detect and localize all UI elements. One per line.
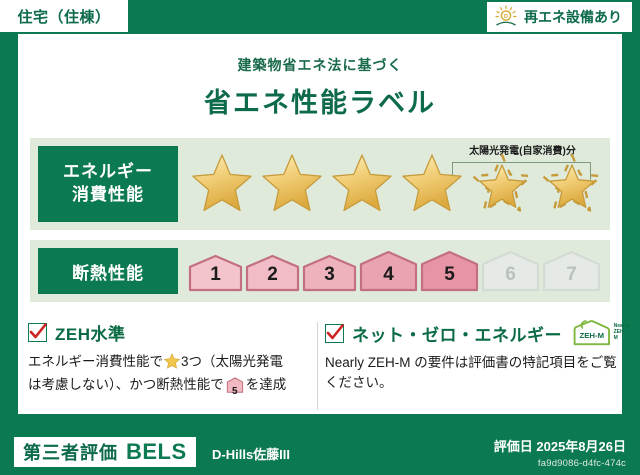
zeh-m-logo: ZEH-M Nearly ZEH-M [572, 320, 629, 346]
house-level-number: 3 [302, 264, 357, 286]
evaluation-date: 評価日 2025年8月26日 [494, 436, 626, 455]
insulation-houses-area: 1234567 [178, 240, 610, 302]
bels-badge: 第三者評価 BELS [14, 437, 196, 467]
title-subtitle: 建築物省エネ法に基づく [0, 55, 640, 75]
svg-text:ZEH-M: ZEH-M [580, 331, 605, 340]
star-rating [188, 151, 606, 217]
zeh-standard-block: ZEH水準 エネルギー消費性能で3つ（太陽光発電は考慮しない）、かつ断熱性能で5… [28, 320, 318, 400]
bels-en-label: BELS [126, 439, 187, 465]
house-level-number: 5 [420, 264, 479, 286]
title-main: 省エネ性能ラベル [0, 81, 640, 120]
inline-house-number: 5 [226, 384, 244, 399]
energy-stars-area: 太陽光発電(自家消費)分 [178, 138, 610, 230]
house-level-on: 4 [359, 250, 418, 292]
evaluation-id: fa9d9086-d4fc-474c [494, 458, 626, 469]
net-zero-checkbox [325, 324, 344, 343]
house-level-on: 3 [302, 254, 357, 292]
net-zero-title: ネット・ゼロ・エネルギー [352, 321, 562, 346]
house-level-on: 1 [188, 254, 243, 292]
house-level-number: 7 [542, 264, 601, 286]
star-filled [328, 151, 396, 217]
zeh-m-logo-sub: Nearly ZEH-M [614, 324, 630, 341]
zeh-body-mid: 3つ（太陽光発電 [181, 354, 283, 369]
building-type-label: 住宅（住棟） [17, 6, 110, 27]
house-level-number: 2 [245, 264, 300, 286]
footer-meta: 評価日 2025年8月26日 fa9d9086-d4fc-474c [494, 436, 626, 469]
zeh-body-mid2: は考慮しない）、かつ断熱性能で [28, 377, 224, 392]
star-filled [398, 151, 466, 217]
house-level-scale: 1234567 [188, 250, 601, 292]
zeh-body-pre: エネルギー消費性能で [28, 354, 163, 369]
house-level-on: 2 [245, 254, 300, 292]
zeh-body-post: を達成 [246, 377, 287, 392]
house-level-off: 7 [542, 250, 601, 292]
energy-label-line1: エネルギー [63, 161, 153, 184]
inline-house-icon: 5 [226, 377, 244, 399]
zeh-standard-body: エネルギー消費性能で3つ（太陽光発電は考慮しない）、かつ断熱性能で5を達成 [28, 352, 318, 400]
bels-jp-label: 第三者評価 [23, 439, 118, 465]
sun-icon: D [493, 5, 519, 29]
net-zero-energy-block: ネット・ゼロ・エネルギー ZEH-M Nearly ZEH-M Nearly Z… [325, 320, 617, 394]
star-solar [538, 151, 606, 217]
renewable-badge-label: 再エネ設備あり [524, 7, 622, 27]
insulation-performance-label: 断熱性能 [38, 248, 178, 294]
label-title: 建築物省エネ法に基づく 省エネ性能ラベル [0, 55, 640, 120]
zeh-standard-header: ZEH水準 [28, 320, 318, 345]
building-type-tab: 住宅（住棟） [0, 0, 128, 32]
svg-text:D: D [504, 14, 508, 20]
star-solar [468, 151, 536, 217]
house-level-number: 6 [481, 264, 540, 286]
house-level-number: 4 [359, 264, 418, 286]
inline-star-icon [164, 353, 180, 375]
project-name: D-Hills佐藤III [212, 444, 290, 463]
star-filled [188, 151, 256, 217]
net-zero-energy-header: ネット・ゼロ・エネルギー ZEH-M Nearly ZEH-M [325, 320, 617, 346]
zeh-standard-checkbox [28, 323, 47, 342]
insulation-performance-row: 断熱性能 1234567 [30, 240, 610, 302]
house-level-off: 6 [481, 250, 540, 292]
net-zero-body: Nearly ZEH-M の要件は評価書の特記項目をご覧ください。 [325, 353, 617, 394]
energy-performance-label: エネルギー 消費性能 [38, 146, 178, 222]
energy-performance-label: 住宅（住棟） D 再エネ設備あり 建築物省エネ法に基づ [0, 0, 640, 475]
zeh-standard-title: ZEH水準 [55, 320, 126, 345]
house-level-on: 5 [420, 250, 479, 292]
house-level-number: 1 [188, 264, 243, 286]
star-filled [258, 151, 326, 217]
energy-performance-row: エネルギー 消費性能 太陽光発電(自家消費)分 [30, 138, 610, 230]
renewable-energy-badge: D 再エネ設備あり [487, 2, 632, 32]
energy-label-line2: 消費性能 [72, 184, 144, 207]
insulation-label-text: 断熱性能 [72, 259, 144, 284]
zeh-m-sub2: ZEH-M [614, 329, 626, 341]
